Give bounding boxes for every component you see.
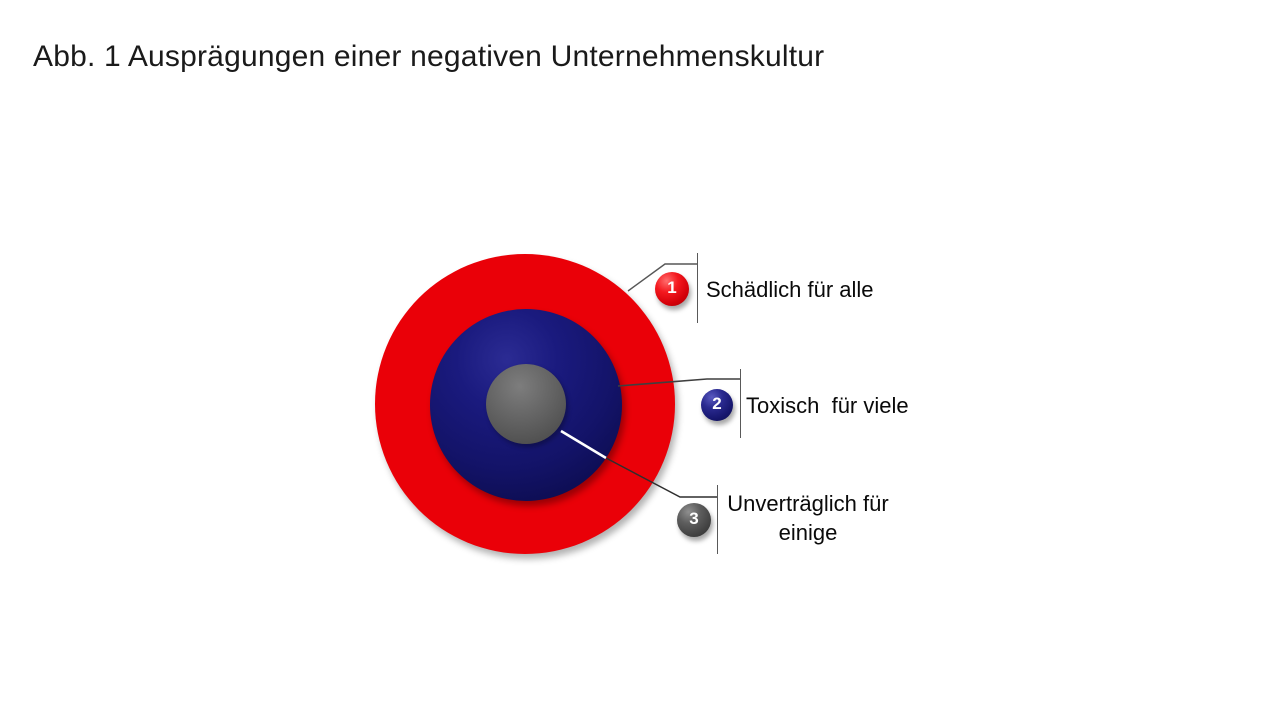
callout-2-number: 2 (712, 394, 721, 414)
callout-2-rule (740, 369, 741, 438)
callout-2-label: Toxisch für viele (746, 391, 909, 420)
callout-3-badge[interactable]: 3 (677, 503, 711, 537)
callout-2-badge[interactable]: 2 (701, 389, 733, 421)
callout-3-label-line-2: einige (718, 518, 898, 547)
callout-1-badge[interactable]: 1 (655, 272, 689, 306)
callout-1-rule (697, 253, 698, 323)
callout-1-number: 1 (667, 278, 676, 298)
circle-inner-gray[interactable] (486, 364, 566, 444)
concentric-circle-diagram (0, 0, 1280, 720)
slide-canvas: Abb. 1 Ausprägungen einer negativen Unte… (0, 0, 1280, 720)
callout-3-number: 3 (689, 509, 698, 529)
callout-3-label-line-1: Unverträglich für (718, 489, 898, 518)
callout-1-label: Schädlich für alle (706, 275, 874, 304)
callout-3-label: Unverträglich für einige (718, 489, 898, 547)
